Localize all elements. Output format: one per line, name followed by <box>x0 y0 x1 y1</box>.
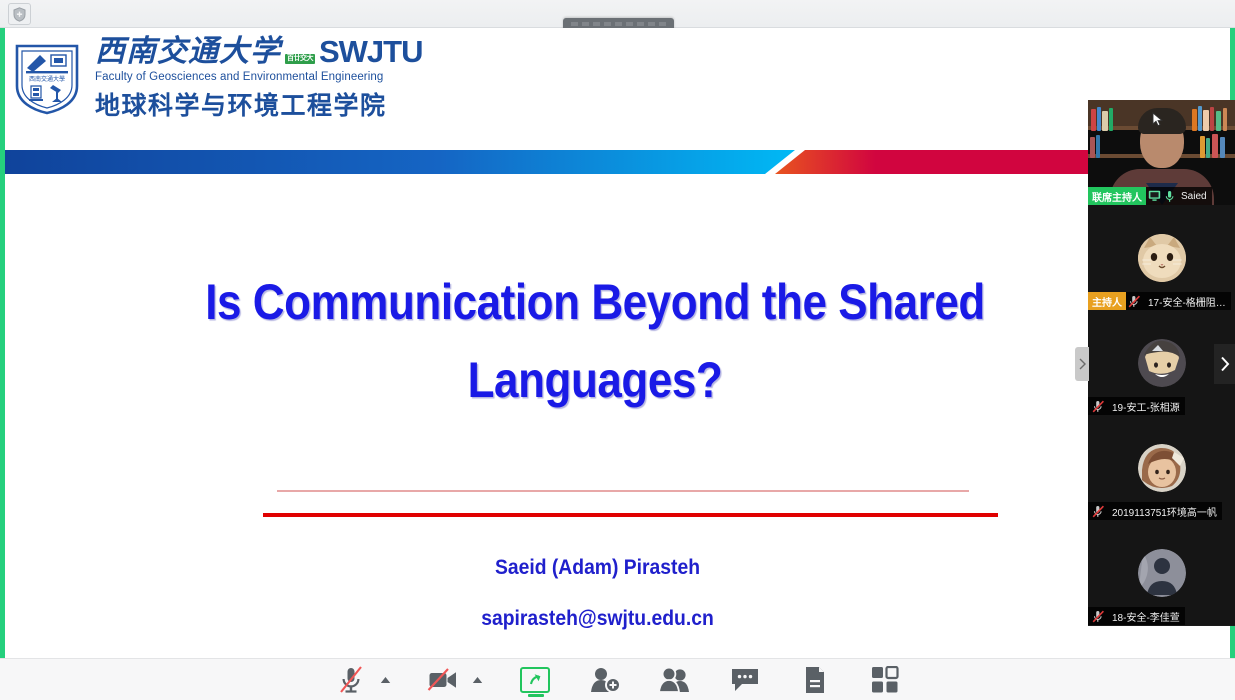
collapse-filmstrip-button[interactable] <box>1075 347 1089 381</box>
participant-name-bar: 19-安工-张相源 <box>1088 397 1185 415</box>
logo-acronym: SWJTU <box>319 36 423 67</box>
logo-seal-badge: 百廿交大 <box>285 54 315 64</box>
participant-name-bar: 2019113751环境高一帆 <box>1088 502 1222 520</box>
chat-bubble-icon <box>730 667 760 693</box>
participant-name-bar: 联席主持人 Saied <box>1088 187 1212 205</box>
meeting-screen-share-window: 西南交通大學 西南交通大学 百廿交大 SWJTU Faculty of Geos… <box>0 0 1235 700</box>
participant-filmstrip[interactable]: 联席主持人 Saied <box>1088 100 1235 626</box>
participant-name: 18-安全-李佳萱 <box>1107 609 1185 624</box>
decorative-rule-thick <box>263 513 998 517</box>
layout-grid-icon <box>871 666 899 694</box>
participants-icon <box>658 666 692 694</box>
caret-up-icon <box>472 676 483 684</box>
toolbar-button-document[interactable] <box>791 659 839 700</box>
toolbar-handle-grip <box>571 22 666 26</box>
microphone-muted-icon <box>1126 295 1143 308</box>
avatar <box>1138 234 1186 282</box>
toolbar-button-stop-video[interactable] <box>419 659 467 700</box>
mouse-cursor-icon <box>1152 112 1163 127</box>
participant-name-bar: 主持人 17-安全-格栅阻… <box>1088 292 1231 310</box>
microphone-muted-icon <box>1088 400 1107 413</box>
participant-name: 2019113751环境高一帆 <box>1107 504 1222 519</box>
toolbar-button-view-layout[interactable] <box>861 659 909 700</box>
toolbar-button-chat[interactable] <box>721 659 769 700</box>
participant-name: 17-安全-格栅阻… <box>1143 294 1231 309</box>
logo-faculty-en: Faculty of Geosciences and Environmental… <box>95 71 423 83</box>
screen-share-icon <box>1146 190 1163 202</box>
author-name: Saeid (Adam) Pirasteh <box>108 556 1088 580</box>
logo-university-cn: 西南交通大学 <box>95 37 281 67</box>
chevron-right-icon <box>1079 358 1086 370</box>
slide-title: Is Communication Beyond the Shared Langu… <box>129 264 1062 419</box>
slide-banner-stripe <box>5 150 1230 174</box>
invite-person-icon <box>589 666 621 694</box>
decorative-rule-thin <box>277 490 969 492</box>
participant-tile[interactable]: 2019113751环境高一帆 <box>1088 415 1235 520</box>
slide-title-line-1: Is Communication Beyond the Shared <box>129 264 1062 342</box>
author-email: sapirasteh@swjtu.edu.cn <box>108 607 1088 631</box>
toolbar-button-participants[interactable] <box>651 659 699 700</box>
participant-name: 19-安工-张相源 <box>1107 399 1185 414</box>
shared-screen-region: 西南交通大學 西南交通大学 百廿交大 SWJTU Faculty of Geos… <box>0 28 1235 658</box>
toolbar-button-video-options[interactable] <box>467 659 489 700</box>
filmstrip-next-page-button[interactable] <box>1214 344 1235 384</box>
toolbar-button-audio-options[interactable] <box>375 659 397 700</box>
presentation-slide: 西南交通大學 西南交通大学 百廿交大 SWJTU Faculty of Geos… <box>5 28 1230 658</box>
avatar <box>1138 549 1186 597</box>
shield-icon <box>13 7 26 22</box>
toolbar-button-share-screen[interactable] <box>511 659 559 700</box>
avatar <box>1138 339 1186 387</box>
participant-name: Saied <box>1176 191 1212 202</box>
svg-text:西南交通大學: 西南交通大學 <box>29 75 65 83</box>
participant-tile[interactable]: 联席主持人 Saied <box>1088 100 1235 205</box>
meeting-toolbar <box>0 658 1235 700</box>
participant-role-badge: 联席主持人 <box>1088 187 1146 205</box>
university-logo: 西南交通大學 西南交通大学 百廿交大 SWJTU Faculty of Geos… <box>13 36 423 122</box>
participant-tile[interactable]: 18-安全-李佳萱 <box>1088 520 1235 625</box>
toolbar-button-invite[interactable] <box>581 659 629 700</box>
document-icon <box>803 666 827 694</box>
participant-tile[interactable]: 19-安工-张相源 <box>1088 310 1235 415</box>
caret-up-icon <box>380 676 391 684</box>
microphone-icon <box>1163 190 1176 203</box>
swjtu-crest-icon: 西南交通大學 <box>13 42 81 116</box>
chevron-right-icon <box>1220 356 1230 372</box>
microphone-muted-icon <box>338 665 364 695</box>
toolbar-button-mute-audio[interactable] <box>327 659 375 700</box>
avatar <box>1138 444 1186 492</box>
participant-role-badge: 主持人 <box>1088 292 1126 310</box>
slide-author-block: Saeid (Adam) Pirasteh sapirasteh@swjtu.e… <box>65 556 1130 658</box>
screen-share-active-icon <box>520 667 550 693</box>
video-muted-icon <box>427 666 459 694</box>
screen-share-border-left <box>0 28 5 658</box>
security-shield-button[interactable] <box>8 3 31 25</box>
logo-faculty-cn: 地球科学与环境工程学院 <box>95 86 423 122</box>
participant-name-bar: 18-安全-李佳萱 <box>1088 607 1185 625</box>
microphone-muted-icon <box>1088 610 1107 623</box>
participant-tile[interactable]: 主持人 17-安全-格栅阻… <box>1088 205 1235 310</box>
microphone-muted-icon <box>1088 505 1107 518</box>
slide-title-line-2: Languages? <box>129 342 1062 420</box>
